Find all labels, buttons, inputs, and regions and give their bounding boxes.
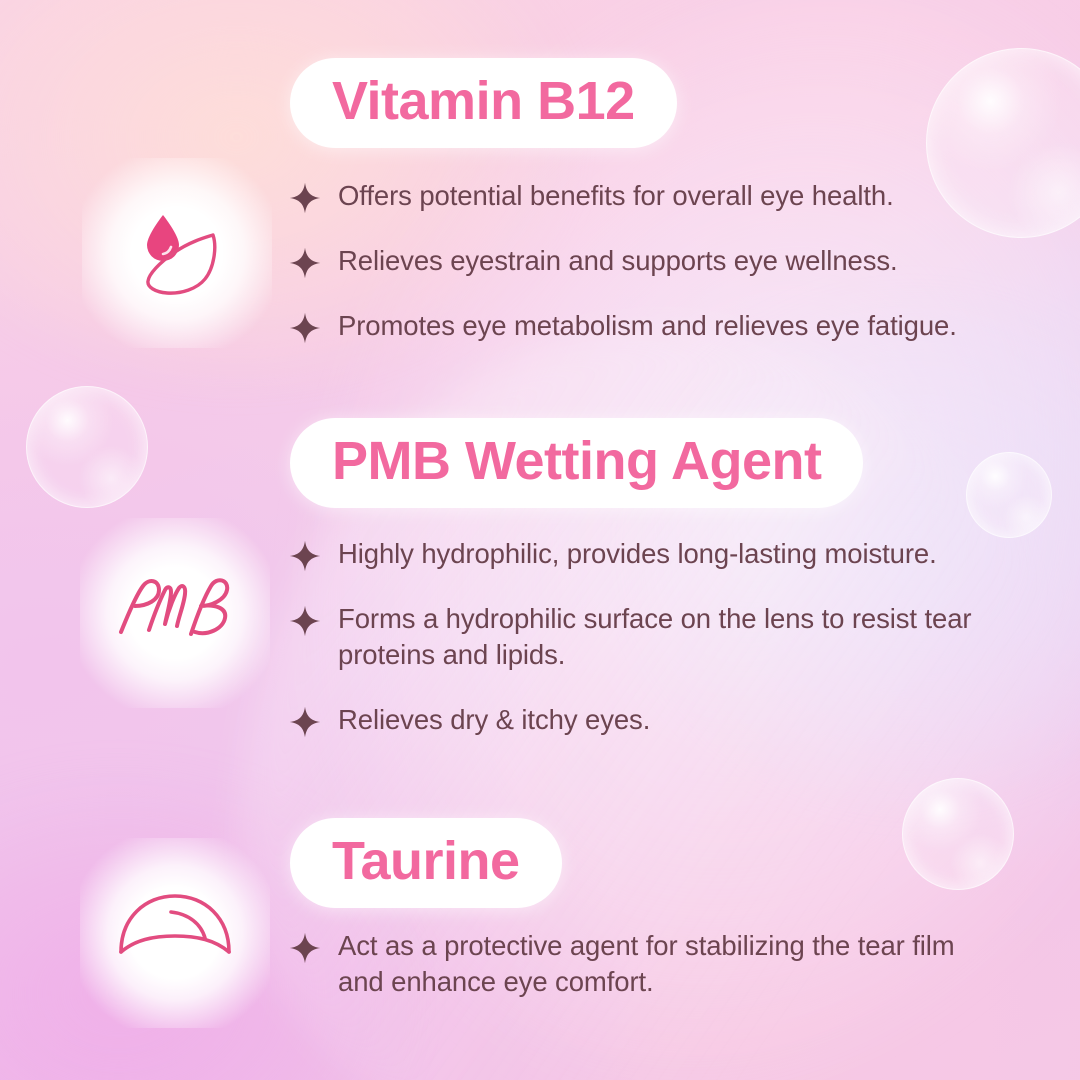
sparkle-icon (288, 311, 322, 345)
bullet-list-vitamin-b12: Offers potential benefits for overall ey… (288, 178, 1008, 345)
infographic-canvas: Vitamin B12 Offers potential benefits fo… (0, 0, 1080, 1080)
heading-pill-pmb-wetting-agent: PMB Wetting Agent (290, 418, 863, 508)
sparkle-icon (288, 705, 322, 739)
list-item-text: Promotes eye metabolism and relieves eye… (338, 308, 957, 344)
list-item: Act as a protective agent for stabilizin… (288, 928, 988, 1001)
sparkle-icon (288, 931, 322, 965)
list-item-text: Act as a protective agent for stabilizin… (338, 928, 988, 1001)
section-title: Vitamin B12 (332, 74, 635, 128)
list-item-text: Highly hydrophilic, provides long-lastin… (338, 536, 937, 572)
bubble-bottom-right (902, 778, 1014, 890)
list-item: Relieves dry & itchy eyes. (288, 702, 1018, 739)
sparkle-icon (288, 246, 322, 280)
bubble-right-small (966, 452, 1052, 538)
section-title: Taurine (332, 834, 520, 888)
list-item: Highly hydrophilic, provides long-lastin… (288, 536, 1018, 573)
list-item-text: Forms a hydrophilic surface on the lens … (338, 601, 1018, 674)
droplet-on-lens-icon (82, 158, 272, 348)
sparkle-icon (288, 539, 322, 573)
list-item-text: Offers potential benefits for overall ey… (338, 178, 894, 214)
list-item: Forms a hydrophilic surface on the lens … (288, 601, 1018, 674)
list-item-text: Relieves eyestrain and supports eye well… (338, 243, 898, 279)
section-title: PMB Wetting Agent (332, 434, 821, 488)
lens-dome-icon (80, 838, 270, 1028)
bullet-list-pmb-wetting-agent: Highly hydrophilic, provides long-lastin… (288, 536, 1018, 739)
sparkle-icon (288, 181, 322, 215)
bullet-list-taurine: Act as a protective agent for stabilizin… (288, 928, 988, 1001)
list-item: Promotes eye metabolism and relieves eye… (288, 308, 1008, 345)
bubble-left (26, 386, 148, 508)
heading-pill-vitamin-b12: Vitamin B12 (290, 58, 677, 148)
heading-pill-taurine: Taurine (290, 818, 562, 908)
list-item: Offers potential benefits for overall ey… (288, 178, 1008, 215)
list-item: Relieves eyestrain and supports eye well… (288, 243, 1008, 280)
sparkle-icon (288, 604, 322, 638)
pmb-script-icon (80, 518, 270, 708)
list-item-text: Relieves dry & itchy eyes. (338, 702, 650, 738)
